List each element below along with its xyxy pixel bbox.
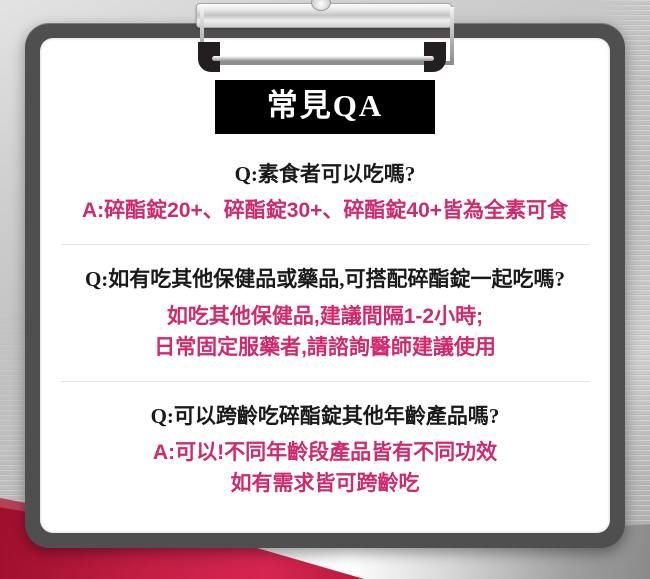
qa-content: 常見QA Q:素食者可以吃嗎? A:碎酯錠20+、碎酯錠30+、碎酯錠40+皆為…: [55, 80, 595, 499]
section-divider-1: [61, 244, 589, 245]
qa-answer-1: A:碎酯錠20+、碎酯錠30+、碎酯錠40+皆為全素可食: [55, 195, 595, 226]
qa-answer-3: A:可以!不同年齡段產品皆有不同功效 如有需求皆可跨齡吃: [55, 437, 595, 499]
qa-item-3: Q:可以跨齡吃碎酯錠其他年齡產品嗎? A:可以!不同年齡段產品皆有不同功效 如有…: [55, 402, 595, 500]
section-divider-2: [61, 381, 589, 382]
qa-answer-3-line-1: A:可以!不同年齡段產品皆有不同功效: [55, 437, 595, 468]
qa-question-1: Q:素食者可以吃嗎?: [55, 160, 595, 189]
qa-question-2: Q:如有吃其他保健品或藥品,可搭配碎酯錠一起吃嗎?: [55, 265, 595, 294]
qa-item-1: Q:素食者可以吃嗎? A:碎酯錠20+、碎酯錠30+、碎酯錠40+皆為全素可食: [55, 160, 595, 226]
page-title: 常見QA: [215, 80, 436, 134]
qa-answer-1-line-1: A:碎酯錠20+、碎酯錠30+、碎酯錠40+皆為全素可食: [55, 195, 595, 226]
qa-question-3: Q:可以跨齡吃碎酯錠其他年齡產品嗎?: [55, 402, 595, 431]
qa-answer-2: 如吃其他保健品,建議間隔1-2小時; 日常固定服藥者,請諮詢醫師建議使用: [55, 301, 595, 363]
qa-answer-3-line-2: 如有需求皆可跨齡吃: [55, 468, 595, 499]
qa-answer-2-line-2: 日常固定服藥者,請諮詢醫師建議使用: [55, 332, 595, 363]
qa-answer-2-line-1: 如吃其他保健品,建議間隔1-2小時;: [55, 301, 595, 332]
qa-item-2: Q:如有吃其他保健品或藥品,可搭配碎酯錠一起吃嗎? 如吃其他保健品,建議間隔1-…: [55, 265, 595, 363]
